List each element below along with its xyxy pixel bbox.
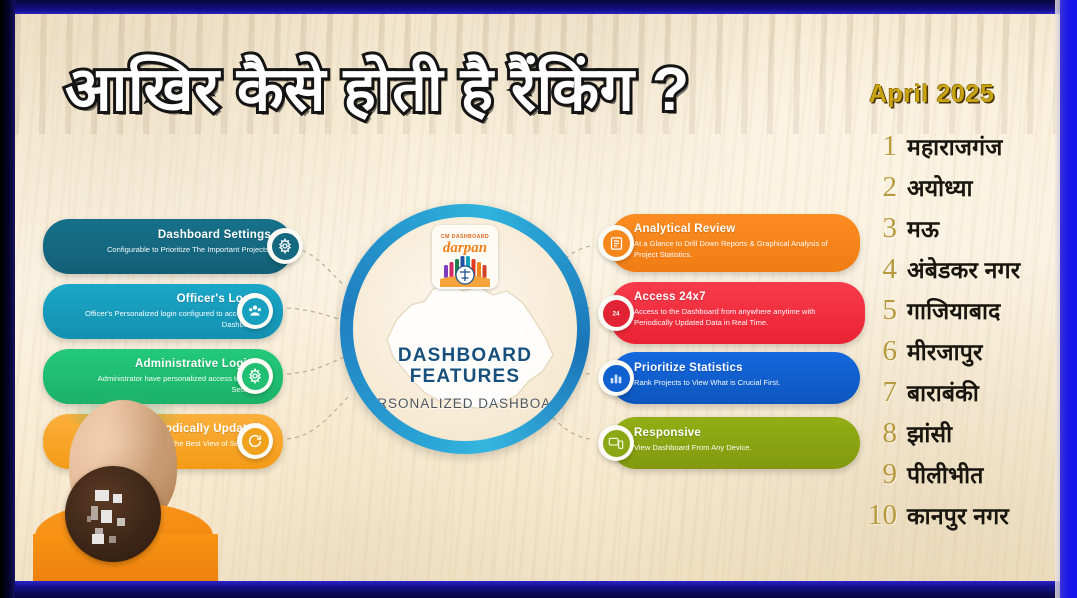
svg-text:darpan: darpan (443, 240, 487, 256)
feature-card-description: Officer's Personalized login configured … (76, 309, 261, 330)
settings-shield-icon (237, 358, 273, 394)
feature-card-prioritize-statistics[interactable]: Prioritize Statistics Rank Projects to V… (610, 352, 860, 404)
clock-24x7-icon: 24 (598, 295, 634, 331)
page-title: आखिर कैसे होती है रैंकिंग ? (65, 50, 855, 132)
ranking-row-9: 9 पीलीभीत (855, 458, 1055, 496)
rank-district-name: अयोध्या (907, 171, 973, 203)
center-hub: CM DASHBOARD darpan (340, 204, 590, 454)
rank-district-name: महाराजगंज (907, 130, 1003, 162)
rank-number: 8 (855, 417, 907, 450)
gear-icon (267, 228, 303, 264)
feature-card-description: At a Glance to Drill Down Reports & Grap… (634, 239, 830, 260)
rank-number: 10 (855, 499, 907, 532)
ranking-row-7: 7 बाराबंकी (855, 376, 1055, 414)
report-icon (598, 225, 634, 261)
rank-number: 6 (855, 335, 907, 368)
ranking-row-5: 5 गाजियाबाद (855, 294, 1055, 332)
ranking-row-6: 6 मीरजापुर (855, 335, 1055, 373)
poster-canvas: आखिर कैसे होती है रैंकिंग ? April 2025 1… (15, 14, 1060, 581)
rank-district-name: मीरजापुर (907, 335, 983, 367)
pixelated-watermark (65, 466, 161, 562)
rank-number: 4 (855, 253, 907, 286)
frame-edge-left (0, 0, 15, 598)
feature-card-responsive[interactable]: Responsive View Dashboard From Any Devic… (610, 417, 860, 469)
feature-card-description: View Dashboard From Any Device. (634, 443, 830, 454)
rank-district-name: अंबेडकर नगर (907, 253, 1020, 285)
feature-card-title: Prioritize Statistics (634, 362, 743, 374)
feature-card-description: Rank Projects to View What is Crucial Fi… (634, 378, 830, 389)
rank-district-name: पीलीभीत (907, 458, 984, 490)
rank-district-name: बाराबंकी (907, 376, 979, 408)
ranking-row-1: 1 महाराजगंज (855, 130, 1055, 168)
center-inner: CM DASHBOARD darpan (353, 217, 577, 441)
ranking-row-4: 4 अंबेडकर नगर (855, 253, 1055, 291)
darpan-logo: CM DASHBOARD darpan (432, 225, 498, 289)
ranking-row-3: 3 मऊ (855, 212, 1055, 250)
feature-card-title: Responsive (634, 427, 701, 439)
ranking-row-2: 2 अयोध्या (855, 171, 1055, 209)
rank-district-name: गाजियाबाद (907, 294, 1001, 326)
ranking-month-label: April 2025 (869, 80, 995, 109)
ranking-panel: April 2025 1 महाराजगंज 2 अयोध्या 3 मऊ 4 … (855, 80, 1055, 550)
bar-chart-icon (598, 360, 634, 396)
center-title-text: DASHBOARD FEATURES (353, 345, 577, 387)
poster-frame: आखिर कैसे होती है रैंकिंग ? April 2025 1… (0, 0, 1077, 598)
users-icon (237, 293, 273, 329)
rank-district-name: कानपुर नगर (907, 499, 1009, 531)
feature-card-title: Access 24x7 (634, 291, 706, 303)
feature-card-dashboard-settings[interactable]: Dashboard Settings Configurable to Prior… (43, 219, 293, 274)
ranking-row-8: 8 झांसी (855, 417, 1055, 455)
rank-district-name: झांसी (907, 417, 952, 449)
headline-text: आखिर कैसे होती है रैंकिंग ? (65, 50, 855, 128)
rank-number: 7 (855, 376, 907, 409)
rank-number: 9 (855, 458, 907, 491)
frame-edge-top (0, 0, 1077, 14)
svg-text:24: 24 (612, 311, 620, 318)
feature-card-description: Administrator have personalized access t… (76, 374, 261, 395)
rank-number: 1 (855, 130, 907, 163)
refresh-icon (237, 423, 273, 459)
center-subtitle-text: PERSONALIZED DASHBOARD (353, 396, 577, 411)
rank-district-name: मऊ (907, 212, 939, 244)
feature-card-title: Analytical Review (634, 223, 735, 235)
feature-card-access-24x7[interactable]: Access 24x7 Access to the Dashboard from… (610, 282, 865, 344)
ranking-row-10: 10 कानपुर नगर (855, 499, 1055, 537)
center-title-block: DASHBOARD FEATURES PERSONALIZED DASHBOAR… (353, 345, 577, 411)
feature-card-analytical-review[interactable]: Analytical Review At a Glance to Drill D… (610, 214, 860, 272)
rank-number: 2 (855, 171, 907, 204)
frame-edge-bottom (0, 581, 1077, 598)
feature-card-title: Dashboard Settings (158, 229, 271, 241)
rank-number: 3 (855, 212, 907, 245)
frame-edge-right (1060, 0, 1077, 598)
feature-card-description: Configurable to Prioritize The Important… (86, 245, 271, 256)
devices-icon (598, 425, 634, 461)
feature-card-description: Access to the Dashboard from anywhere an… (634, 307, 830, 328)
